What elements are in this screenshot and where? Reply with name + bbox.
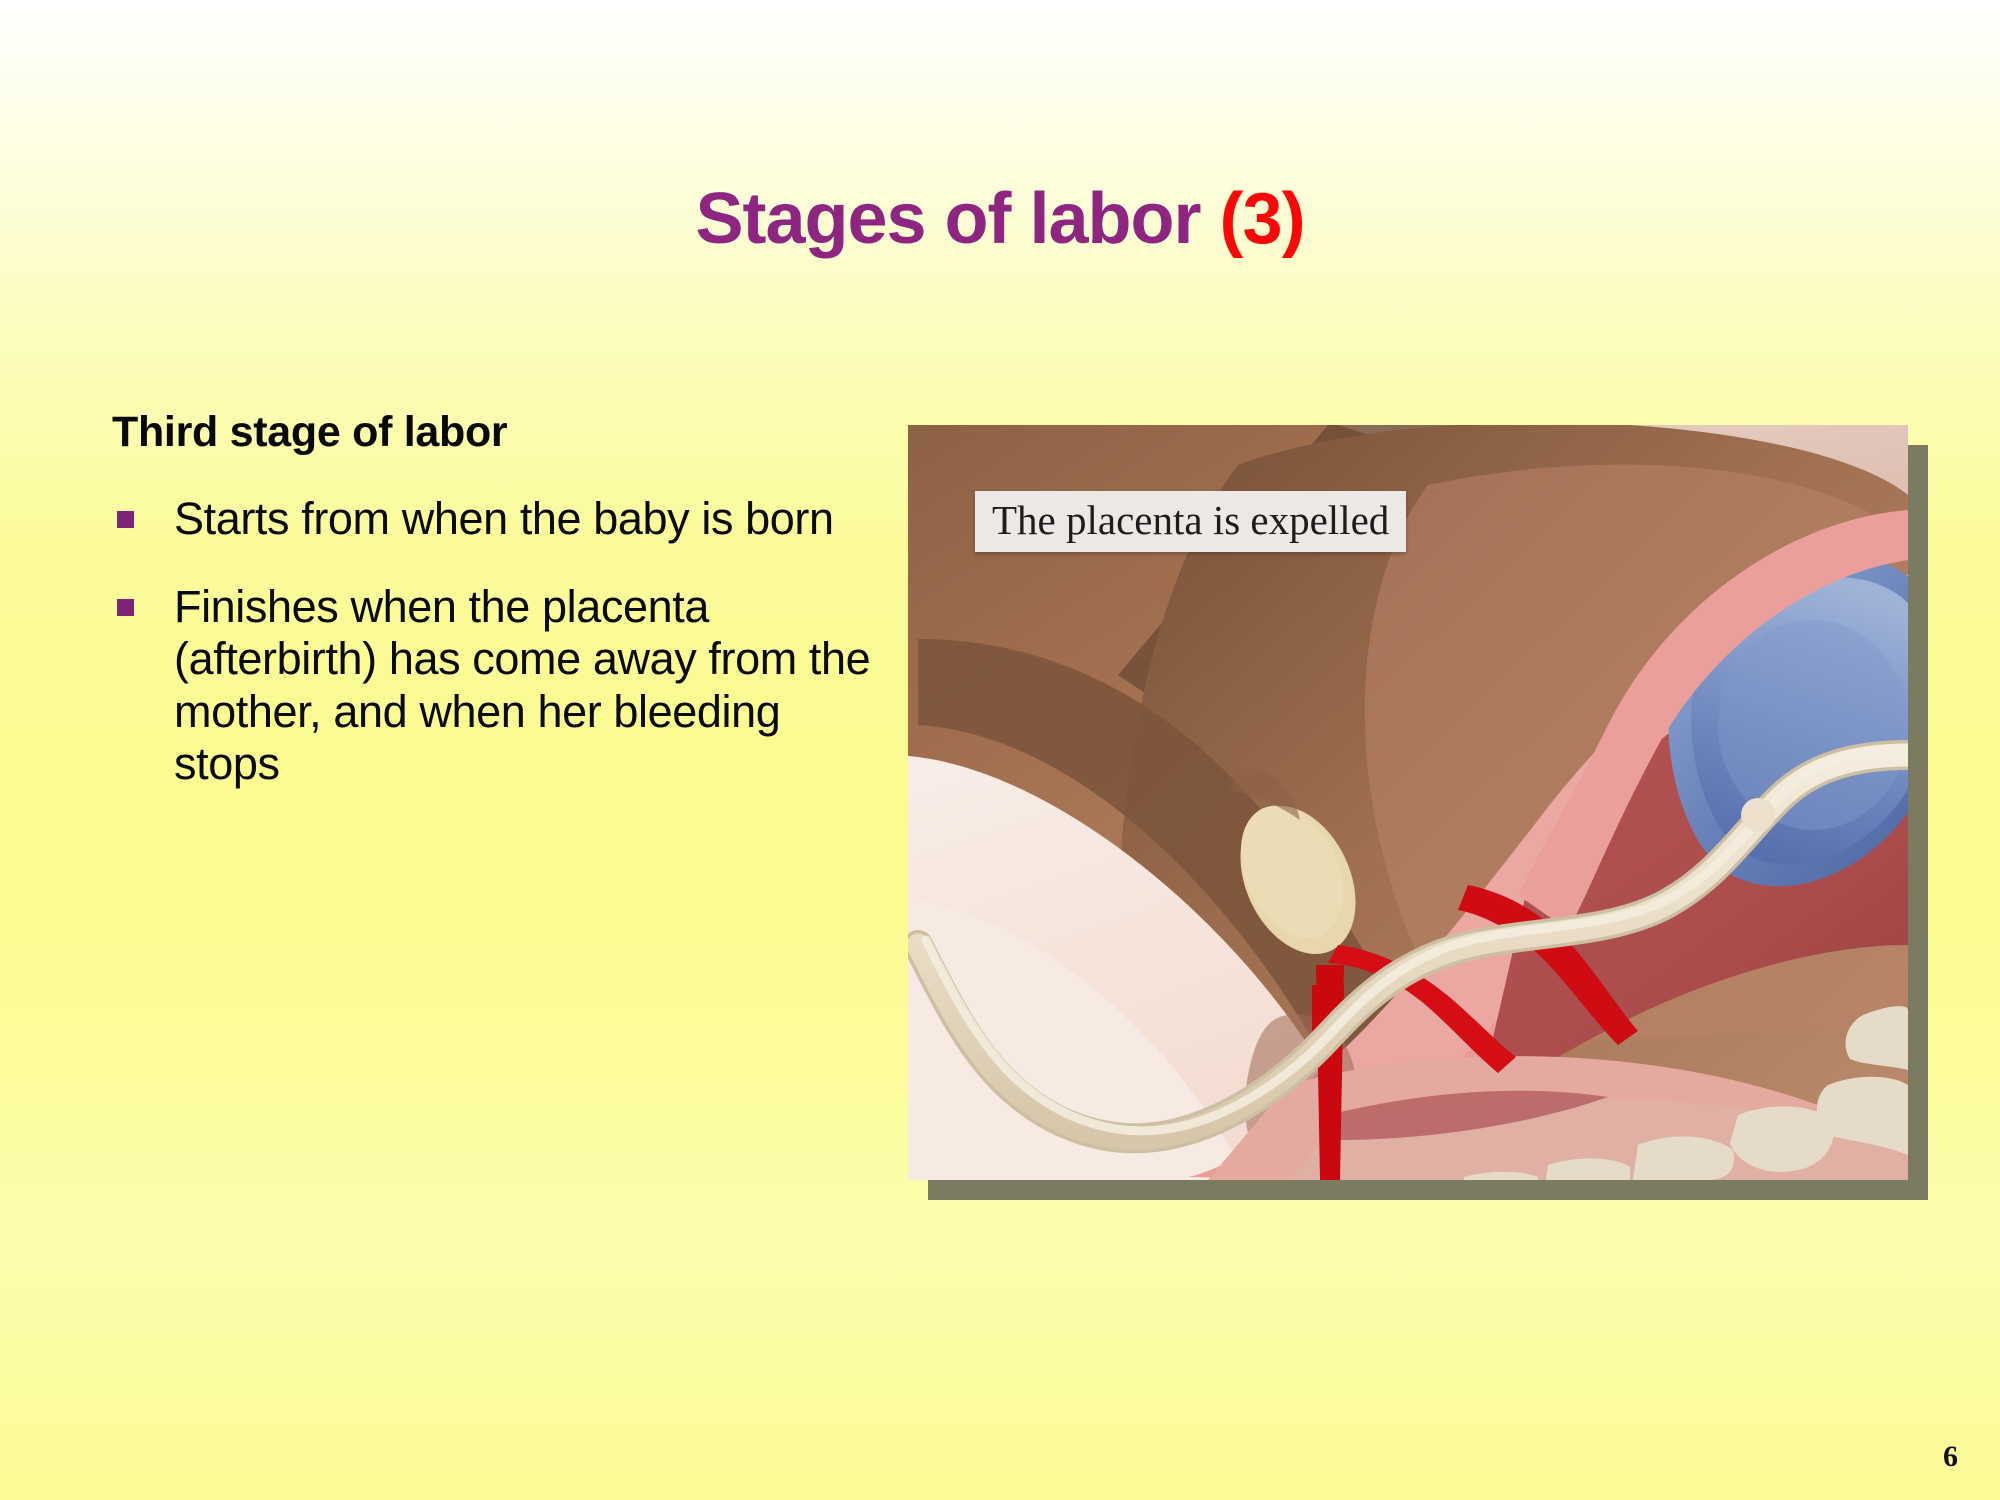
title-main-text: Stages of labor xyxy=(695,179,1219,259)
list-item: Starts from when the baby is born xyxy=(112,493,872,545)
page-number: 6 xyxy=(1943,1440,1958,1474)
list-item: Finishes when the placenta (afterbirth) … xyxy=(112,581,872,790)
illustration-caption: The placenta is expelled xyxy=(975,491,1406,552)
title-paren-text: (3) xyxy=(1220,179,1305,259)
content-column: Third stage of labor Starts from when th… xyxy=(112,408,872,790)
page-title: Stages of labor (3) xyxy=(0,178,2000,260)
list-item-label: Starts from when the baby is born xyxy=(174,493,834,544)
bullet-list: Starts from when the baby is born Finish… xyxy=(112,493,872,790)
square-bullet-icon xyxy=(117,511,134,528)
square-bullet-icon xyxy=(117,599,134,616)
list-item-label: Finishes when the placenta (afterbirth) … xyxy=(174,581,870,789)
subheading: Third stage of labor xyxy=(112,408,872,457)
slide: Stages of labor (3) Third stage of labor… xyxy=(0,0,2000,1500)
